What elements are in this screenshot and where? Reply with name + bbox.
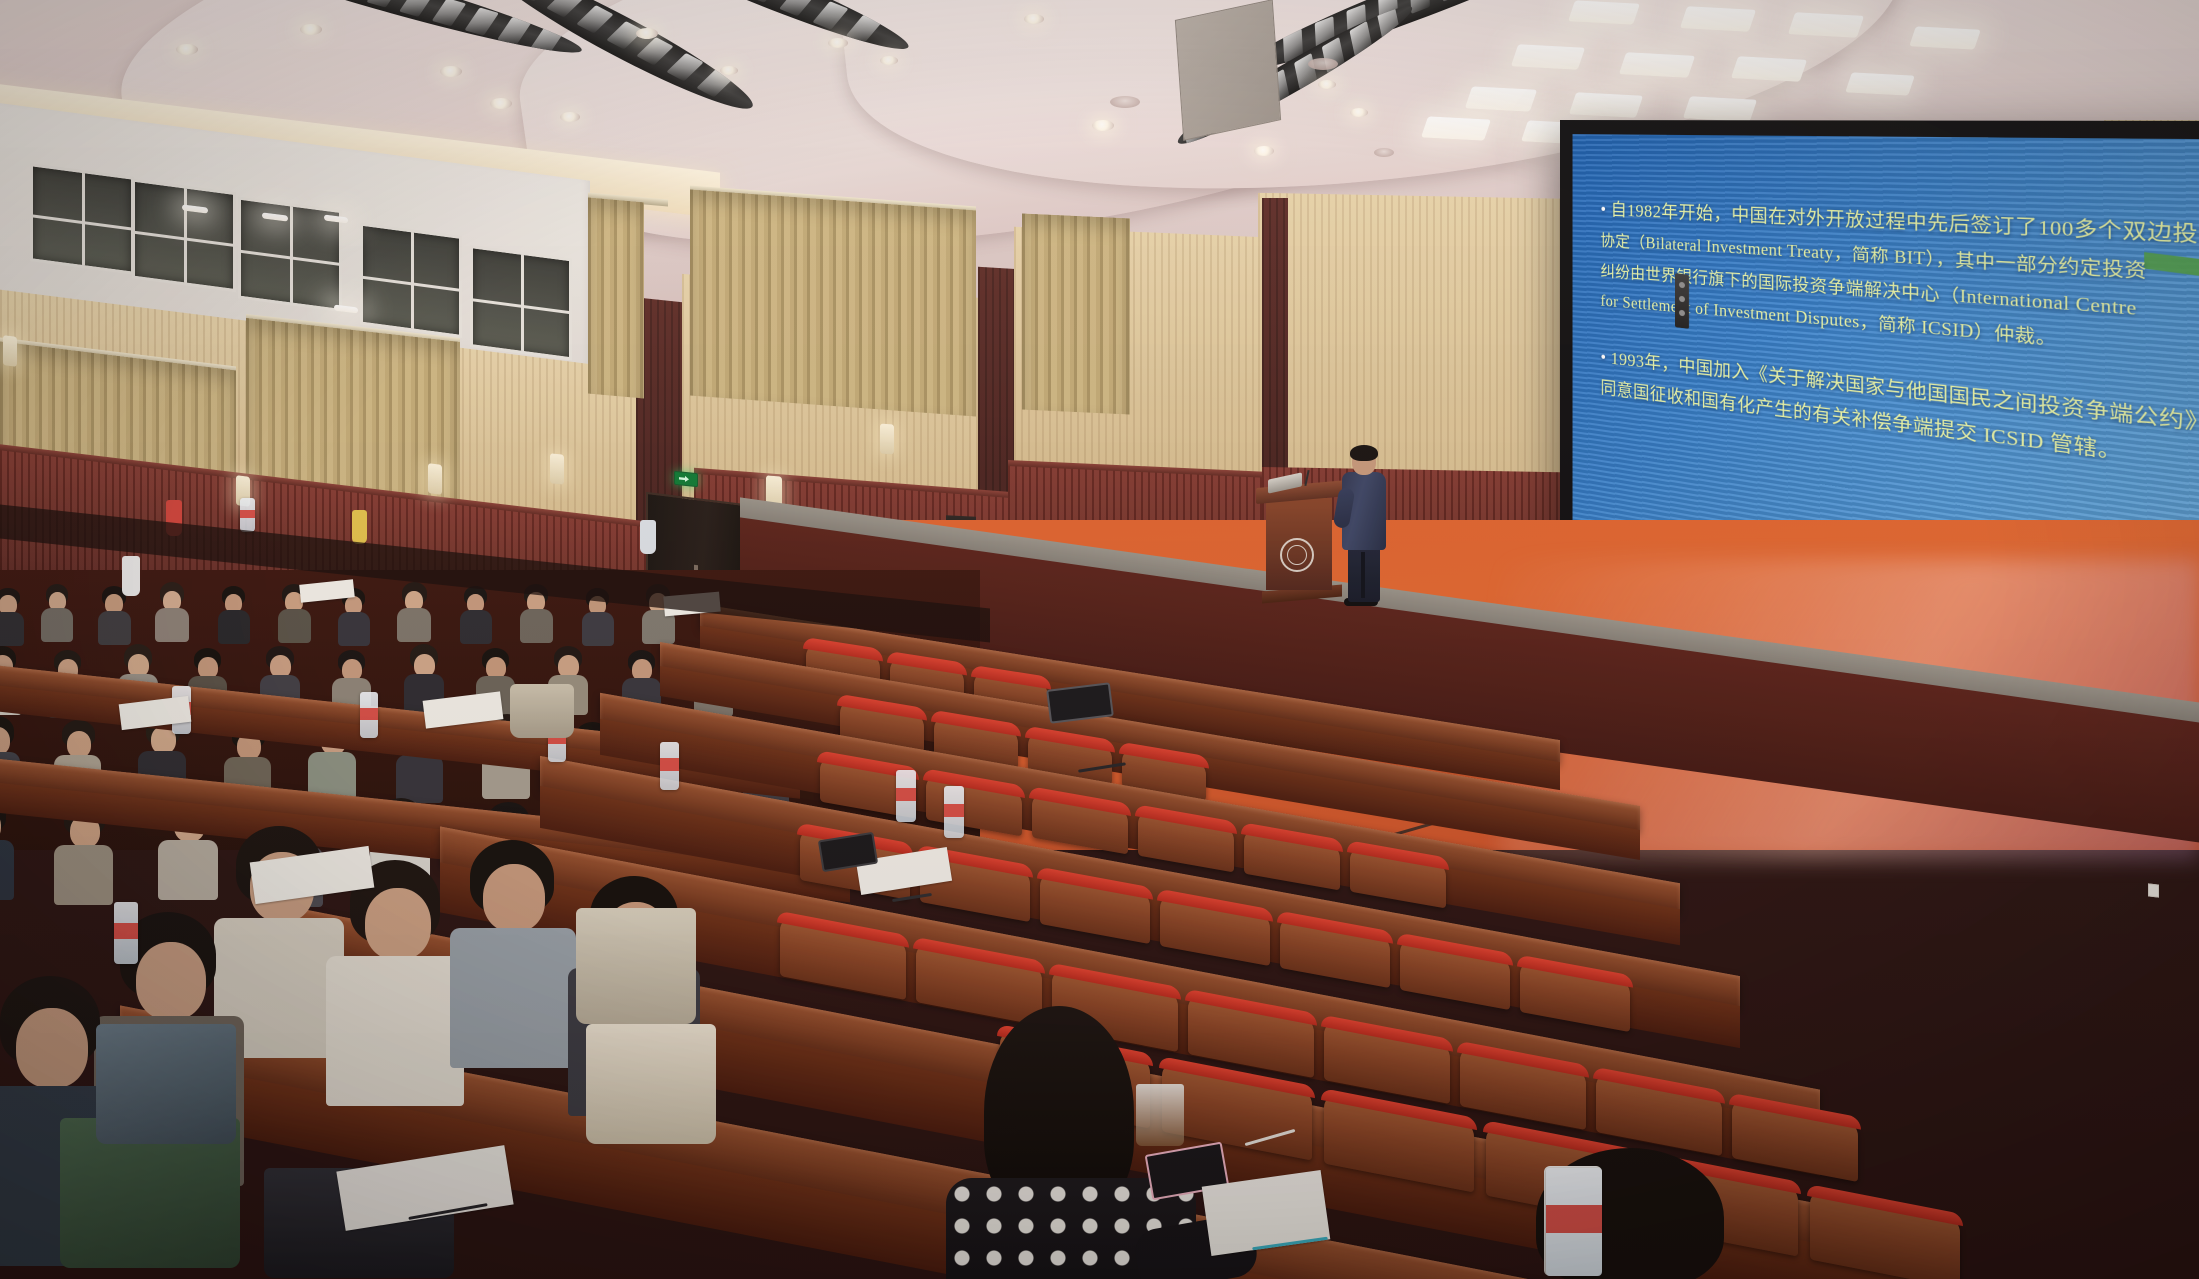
torso xyxy=(460,610,492,644)
torso xyxy=(326,956,464,1106)
slide-bullet-1: 自1982年开始，中国在对外开放过程中先后签订了100多个双边投资 协定（Bil… xyxy=(1600,194,2199,376)
water-bottle[interactable] xyxy=(944,786,964,838)
slide-bullet-2: 1993年，中国加入《关于解决国家与他国国民之间投资争端公约》， 同意国征收和国… xyxy=(1600,342,2199,490)
head xyxy=(67,731,91,758)
torso xyxy=(54,845,113,905)
water-bottle[interactable] xyxy=(896,770,916,822)
backpack[interactable] xyxy=(96,1024,236,1144)
wall-sconce xyxy=(3,335,17,367)
recessed-downlight xyxy=(300,24,322,35)
torso xyxy=(397,608,431,642)
auditorium-photograph: 自1982年开始，中国在对外开放过程中先后签订了100多个双边投资 协定（Bil… xyxy=(0,0,2199,1279)
led-ceiling-panel xyxy=(1909,26,1981,49)
led-ceiling-panel xyxy=(1731,56,1807,82)
university-crest-icon xyxy=(1280,538,1314,572)
auditorium-seat[interactable] xyxy=(1350,846,1446,909)
head xyxy=(365,888,431,960)
recessed-downlight xyxy=(636,28,658,39)
exit-sign-icon xyxy=(674,471,698,488)
thermos-cup[interactable] xyxy=(640,520,656,554)
led-ceiling-panel xyxy=(1619,52,1695,78)
auditorium-seat[interactable] xyxy=(1244,828,1340,891)
smoke-detector-icon xyxy=(1110,96,1140,108)
led-ceiling-panel xyxy=(1683,96,1757,122)
smoke-detector-icon xyxy=(1308,58,1338,70)
water-bottle[interactable] xyxy=(360,692,378,738)
recessed-downlight xyxy=(1318,80,1336,89)
slide-text: 自1982年开始，中国在对外开放过程中先后签订了100多个双边投资 协定（Bil… xyxy=(1600,194,2199,524)
water-bottle[interactable] xyxy=(660,742,679,790)
tote-bag[interactable] xyxy=(510,684,574,738)
water-bottle[interactable] xyxy=(1546,1168,1602,1276)
recessed-downlight xyxy=(1092,120,1114,131)
podium xyxy=(1262,484,1340,602)
booth-window xyxy=(30,163,134,275)
led-ceiling-panel xyxy=(1845,72,1915,95)
recessed-downlight xyxy=(828,38,848,48)
torso xyxy=(450,928,576,1068)
drink-cup[interactable] xyxy=(1136,1084,1184,1146)
sprinkler-icon xyxy=(1374,148,1394,157)
presenter xyxy=(1338,448,1390,608)
booth-window xyxy=(470,245,572,360)
podium-body xyxy=(1266,498,1332,590)
led-ceiling-panel xyxy=(1788,12,1864,38)
torso xyxy=(278,609,311,643)
thermos-cup[interactable] xyxy=(352,510,367,544)
led-ceiling-panel xyxy=(1421,116,1491,140)
head xyxy=(136,942,206,1020)
recessed-downlight xyxy=(1024,14,1044,24)
hvac-diffuser xyxy=(1175,0,1281,141)
tote-bag[interactable] xyxy=(576,908,696,1024)
presenter-hair xyxy=(1350,445,1378,461)
handbag[interactable] xyxy=(586,1024,716,1144)
recessed-downlight xyxy=(176,44,198,55)
water-bottle[interactable] xyxy=(114,902,138,964)
led-ceiling-panel xyxy=(1465,86,1537,111)
led-ceiling-panel xyxy=(1569,92,1643,118)
window-curtain xyxy=(588,198,644,399)
stage-side-curtain xyxy=(690,189,976,416)
auditorium-seat[interactable] xyxy=(1138,810,1234,873)
torso xyxy=(41,608,73,642)
recessed-downlight xyxy=(490,98,512,109)
recessed-downlight xyxy=(560,112,580,122)
head xyxy=(16,1008,88,1088)
recessed-downlight xyxy=(720,66,738,75)
presenter-legs xyxy=(1348,546,1380,602)
recessed-downlight xyxy=(880,56,898,65)
torso xyxy=(158,840,218,900)
recessed-downlight xyxy=(1350,108,1368,117)
water-bottle[interactable] xyxy=(240,498,255,532)
booth-window xyxy=(360,223,462,338)
torso xyxy=(155,608,189,642)
recessed-downlight xyxy=(440,66,462,77)
torso xyxy=(218,610,250,644)
booth-window xyxy=(132,179,236,293)
stage-side-curtain xyxy=(1022,214,1130,415)
thermos-cup[interactable] xyxy=(122,556,140,596)
wall-sconce xyxy=(428,463,442,495)
wall-outlet[interactable] xyxy=(2148,883,2159,897)
recessed-downlight xyxy=(1254,146,1274,156)
wall-sconce xyxy=(880,424,894,455)
wall-pillar xyxy=(1262,198,1288,498)
led-ceiling-panel xyxy=(1680,6,1756,32)
head xyxy=(483,864,545,932)
led-ceiling-panel xyxy=(1568,0,1640,24)
wall-control-plate[interactable] xyxy=(1675,273,1689,329)
stage-wall-upper xyxy=(1258,193,1588,509)
wall-sconce xyxy=(550,453,564,484)
booth-window xyxy=(238,196,342,312)
torso xyxy=(0,840,14,900)
torso xyxy=(520,609,553,643)
led-ceiling-panel xyxy=(1511,44,1585,70)
